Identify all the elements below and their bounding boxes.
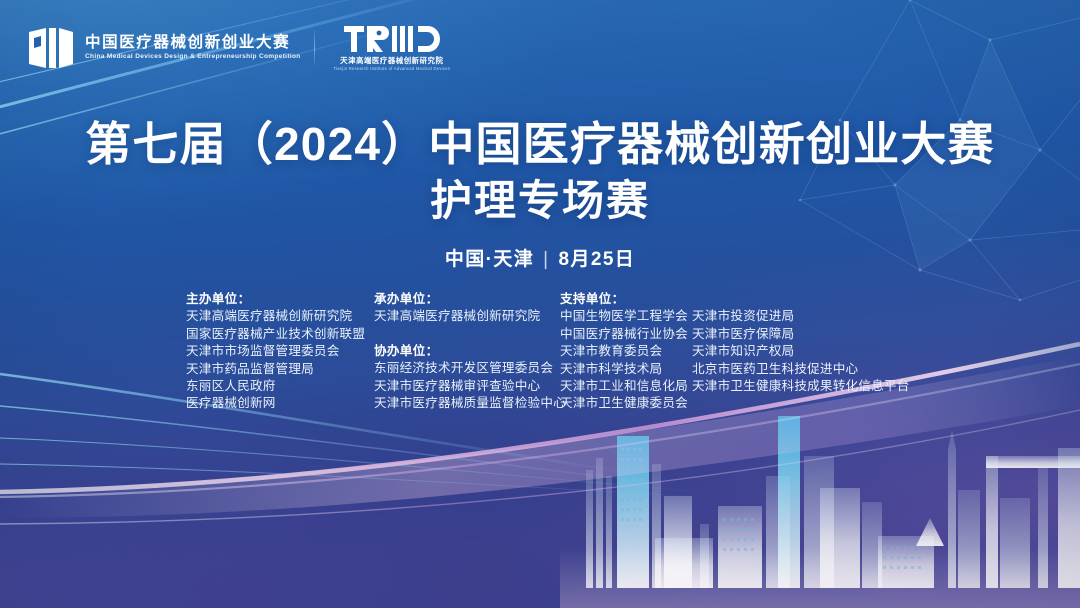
competition-logo-cn: 中国医疗器械创新创业大赛 xyxy=(85,35,296,51)
sponsor-columns: 主办单位： 天津高端医疗器械创新研究院 国家医疗器械产业技术创新联盟 天津市市场… xyxy=(186,291,902,413)
sponsor-item: 天津市医疗保障局 xyxy=(692,326,902,343)
sponsor-item: 中国医疗器械行业协会 xyxy=(560,326,692,343)
sponsor-item: 天津市知识产权局 xyxy=(692,343,902,360)
sponsor-item: 北京市医药卫生科技促进中心 xyxy=(692,361,902,378)
sponsor-item: 天津市科学技术局 xyxy=(560,361,692,378)
header-logo-bar: 中国医疗器械创新创业大赛 China Medical Devices Desig… xyxy=(26,24,450,72)
institute-logo-cn: 天津高端医疗器械创新研究院 xyxy=(340,57,443,64)
event-poster: 中国医疗器械创新创业大赛 China Medical Devices Desig… xyxy=(0,0,1080,608)
sponsor-item: 东丽经济技术开发区管理委员会 xyxy=(374,360,560,377)
sponsor-item: 天津市医疗器械质量监督检验中心 xyxy=(374,395,560,412)
institute-logo-en: Tianjin Research Institute of Advanced M… xyxy=(333,67,450,71)
sponsor-column-hosts: 承办单位： 天津高端医疗器械创新研究院 协办单位： 东丽经济技术开发区管理委员会… xyxy=(374,291,560,412)
sponsor-item: 天津市市场监督管理委员会 xyxy=(186,343,374,360)
sponsor-item: 东丽区人民政府 xyxy=(186,378,374,395)
sponsor-item: 国家医疗器械产业技术创新联盟 xyxy=(186,326,374,343)
competition-logo-en: China Medical Devices Design & Entrepren… xyxy=(85,54,301,60)
sponsor-column-supporters-b: 天津市投资促进局 天津市医疗保障局 天津市知识产权局 北京市医药卫生科技促进中心… xyxy=(692,291,902,395)
sponsor-group: 支持单位： 中国生物医学工程学会 中国医疗器械行业协会 天津市教育委员会 天津市… xyxy=(560,291,692,413)
logo-divider xyxy=(314,28,315,68)
sponsor-item: 天津高端医疗器械创新研究院 xyxy=(374,308,560,325)
poster-title-line-1: 第七届（2024）中国医疗器械创新创业大赛 xyxy=(0,117,1080,172)
sponsor-group-heading: 协办单位： xyxy=(374,343,560,360)
sponsor-item: 天津市教育委员会 xyxy=(560,343,692,360)
competition-logo: 中国医疗器械创新创业大赛 China Medical Devices Desig… xyxy=(26,26,296,70)
poster-title-line-2: 护理专场赛 xyxy=(0,174,1080,228)
competition-logo-words: 中国医疗器械创新创业大赛 China Medical Devices Desig… xyxy=(85,35,296,60)
sponsor-item: 医疗器械创新网 xyxy=(186,395,374,412)
sponsor-group-heading: 主办单位： xyxy=(186,291,374,308)
title-block: 第七届（2024）中国医疗器械创新创业大赛 护理专场赛 中国·天津|8月25日 xyxy=(0,117,1080,269)
sponsor-column-supporters-a: 支持单位： 中国生物医学工程学会 中国医疗器械行业协会 天津市教育委员会 天津市… xyxy=(560,291,692,413)
subtitle-date: 8月25日 xyxy=(558,249,635,270)
sponsor-group: 协办单位： 东丽经济技术开发区管理委员会 天津市医疗器械审评查验中心 天津市医疗… xyxy=(374,343,560,413)
sponsor-item: 天津市医疗器械审评查验中心 xyxy=(374,378,560,395)
poster-subtitle: 中国·天津|8月25日 xyxy=(0,250,1080,269)
sponsor-item: 中国生物医学工程学会 xyxy=(560,308,692,325)
sponsor-item: 天津市药品监督管理局 xyxy=(186,361,374,378)
sponsor-column-spacer xyxy=(692,291,902,308)
subtitle-location: 中国·天津 xyxy=(445,249,534,270)
sponsor-item: 天津市投资促进局 xyxy=(692,308,902,325)
sponsor-group: 承办单位： 天津高端医疗器械创新研究院 xyxy=(374,291,560,326)
sponsor-group: 主办单位： 天津高端医疗器械创新研究院 国家医疗器械产业技术创新联盟 天津市市场… xyxy=(186,291,374,413)
sponsor-group: 天津市投资促进局 天津市医疗保障局 天津市知识产权局 北京市医药卫生科技促进中心… xyxy=(692,291,902,395)
institute-logo: 天津高端医疗器械创新研究院 Tianjin Research Institute… xyxy=(333,24,450,72)
sponsor-item: 天津市卫生健康科技成果转化信息平台 xyxy=(692,378,902,395)
subtitle-separator: | xyxy=(543,250,549,269)
sponsor-column-organizers: 主办单位： 天津高端医疗器械创新研究院 国家医疗器械产业技术创新联盟 天津市市场… xyxy=(186,291,374,413)
sponsor-item: 天津市工业和信息化局 xyxy=(560,378,692,395)
sponsor-group-heading: 支持单位： xyxy=(560,291,692,308)
open-book-door-logo-icon xyxy=(26,26,76,70)
sponsor-item: 天津高端医疗器械创新研究院 xyxy=(186,308,374,325)
sponsor-item: 天津市卫生健康委员会 xyxy=(560,395,692,412)
trimd-wordmark-icon xyxy=(344,24,440,54)
sponsor-group-heading: 承办单位： xyxy=(374,291,560,308)
